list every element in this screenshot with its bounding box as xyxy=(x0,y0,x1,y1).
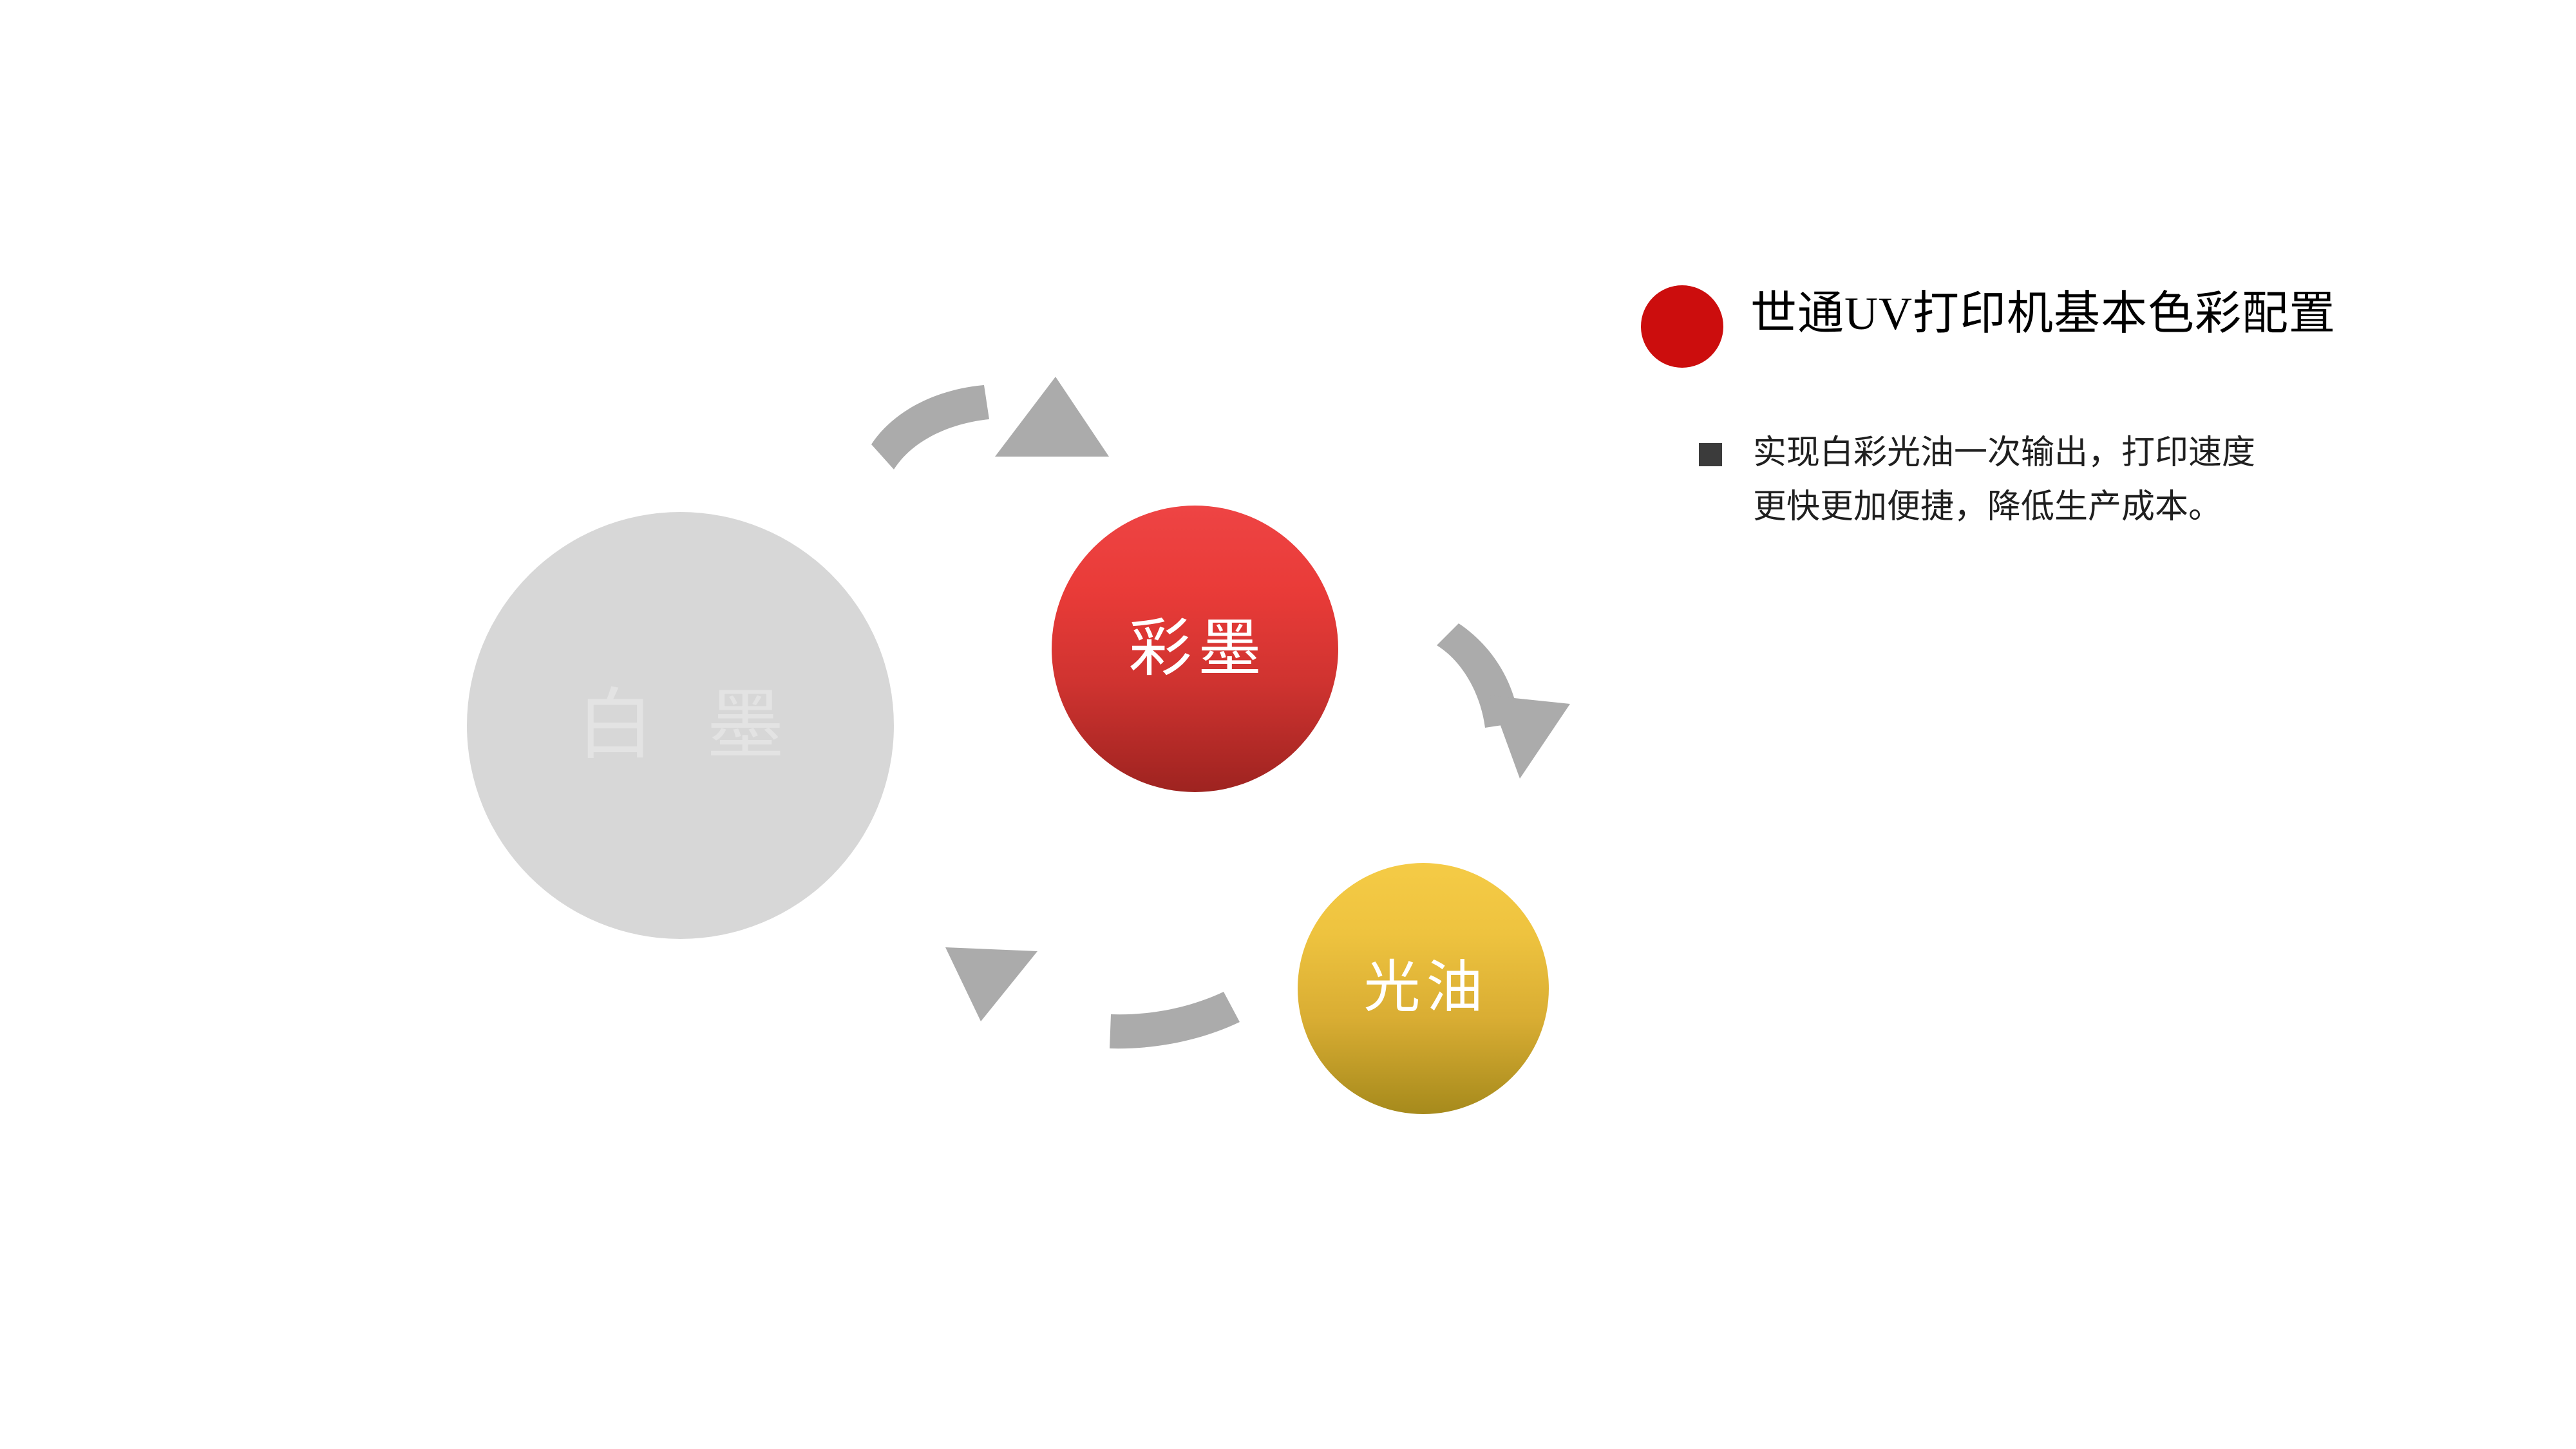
red-circle-bullet-icon xyxy=(1641,285,1723,368)
bubble-white-ink[interactable]: 白 墨 xyxy=(467,512,894,939)
bubble-varnish-label: 光油 xyxy=(1358,960,1488,1017)
title-row: 世通UV打印机基本色彩配置 xyxy=(1636,277,2434,374)
bubble-white-ink-label: 白 墨 xyxy=(560,687,801,764)
body-paragraph: 实现白彩光油一次输出，打印速度更快更加便捷，降低生产成本。 xyxy=(1753,426,2255,535)
arrow-white-to-color-icon xyxy=(871,377,1109,469)
square-bullet-icon xyxy=(1699,443,1722,466)
bubble-color-ink[interactable]: 彩墨 xyxy=(1052,506,1338,792)
text-panel: 世通UV打印机基本色彩配置 实现白彩光油一次输出，打印速度更快更加便捷，降低生产… xyxy=(1636,277,2434,568)
slide-canvas: 白 墨 彩墨 光油 世通UV打印机基本色彩配置 实现白彩光油一次输出，打印速度更… xyxy=(0,0,2576,1449)
ink-cycle-diagram: 白 墨 彩墨 光油 xyxy=(0,0,1610,1449)
page-title: 世通UV打印机基本色彩配置 xyxy=(1750,290,2336,339)
body-row: 实现白彩光油一次输出，打印速度更快更加便捷，降低生产成本。 xyxy=(1636,426,2434,535)
arrow-color-to-varnish-icon xyxy=(1437,623,1570,779)
bubble-varnish[interactable]: 光油 xyxy=(1298,863,1549,1114)
arrow-varnish-to-white-icon xyxy=(945,947,1240,1048)
bubble-color-ink-label: 彩墨 xyxy=(1122,618,1267,681)
